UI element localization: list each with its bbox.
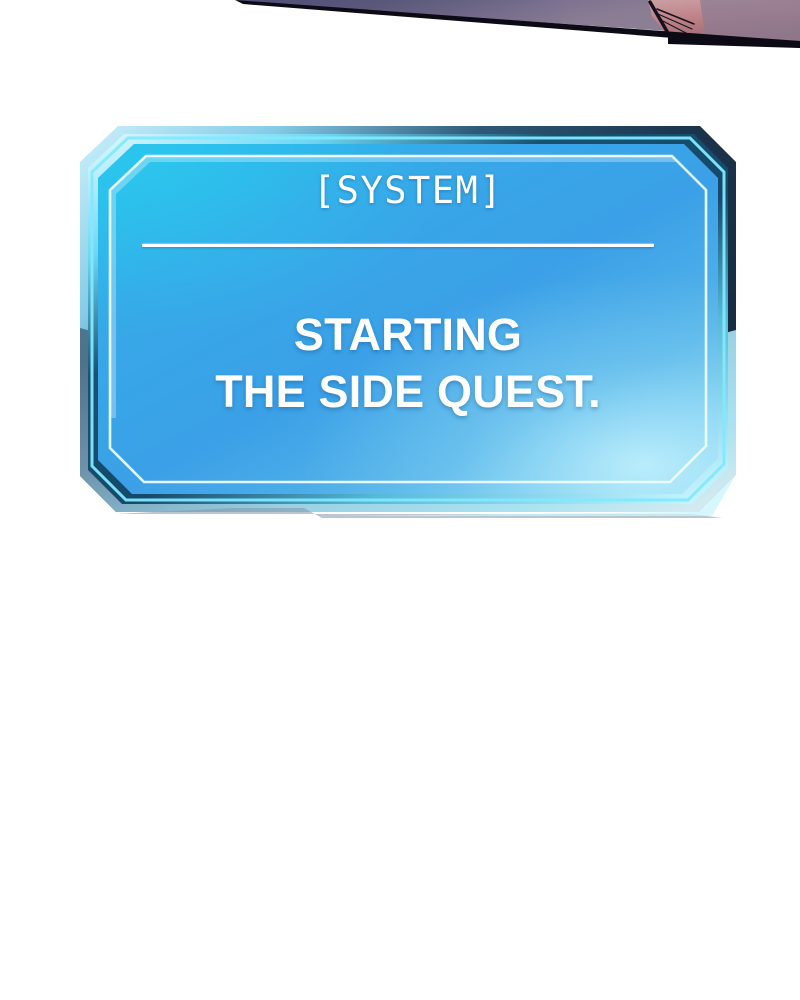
system-notification-window[interactable]: [SYSTEM] STARTING THE SIDE QUEST.: [72, 118, 744, 528]
top-panel-fragment: [0, 0, 800, 52]
dialog-face-glow-tl: [98, 144, 718, 494]
screenshot-canvas: [SYSTEM] STARTING THE SIDE QUEST.: [0, 0, 800, 1000]
